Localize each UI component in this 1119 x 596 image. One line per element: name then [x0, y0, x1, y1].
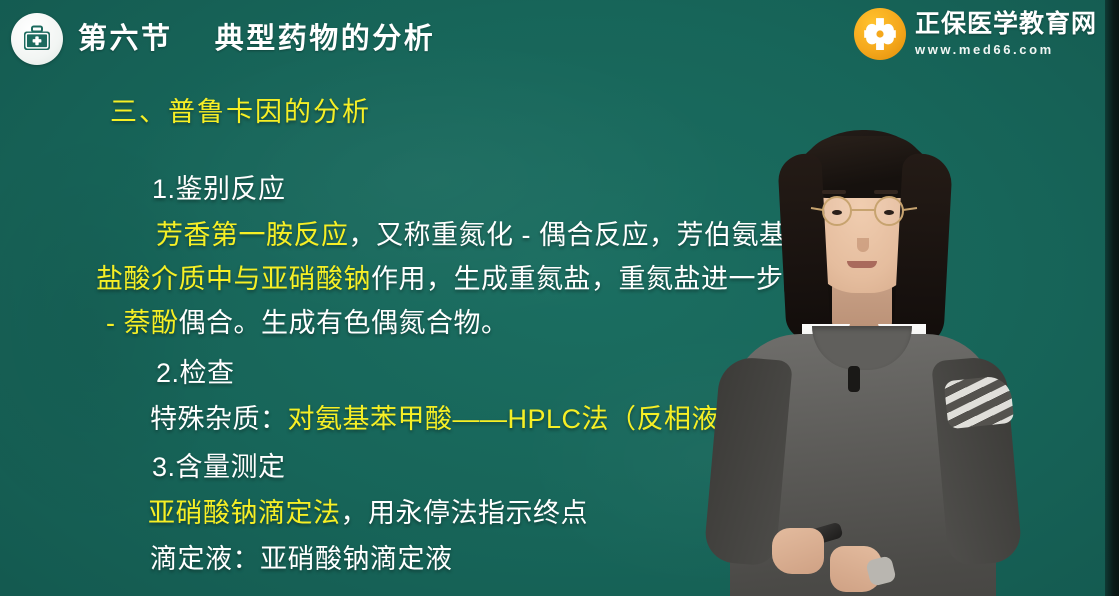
presenter-nose: [857, 238, 869, 252]
lecture-slide: 第六节 典型药物的分析 正保医学教育网 www.med66.com 三、普鲁卡因…: [0, 0, 1119, 596]
right-edge-letterbox: [1105, 0, 1119, 596]
lapel-microphone-icon: [848, 366, 860, 392]
presenter-eye-right: [884, 210, 894, 215]
slide-header: 第六节 典型药物的分析 正保医学教育网 www.med66.com: [0, 0, 1119, 78]
presenter-video-overlay: [690, 120, 1030, 596]
presenter-hair-right: [893, 153, 953, 347]
text-segment: 滴定液：亚硝酸钠滴定液: [150, 544, 453, 574]
page-title: 第六节 典型药物的分析: [78, 14, 435, 64]
brand-logo: 正保医学教育网 www.med66.com: [854, 8, 1097, 60]
presenter-eye-left: [832, 210, 842, 215]
cross-circle-icon: [854, 8, 906, 60]
glasses-icon: [810, 196, 918, 226]
presenter-brow-left: [822, 190, 846, 194]
content-line-para3-b: 滴定液：亚硝酸钠滴定液: [102, 506, 453, 596]
brand-name: 正保医学教育网: [915, 12, 1097, 37]
medical-kit-icon: [11, 13, 63, 65]
presenter-hand-left: [772, 528, 824, 574]
sleeve-stripe: [944, 375, 1015, 430]
presenter-mouth: [847, 261, 877, 268]
brand-url: www.med66.com: [915, 43, 1097, 56]
presenter-brow-right: [874, 190, 898, 194]
section-heading: 三、普鲁卡因的分析: [110, 90, 371, 129]
